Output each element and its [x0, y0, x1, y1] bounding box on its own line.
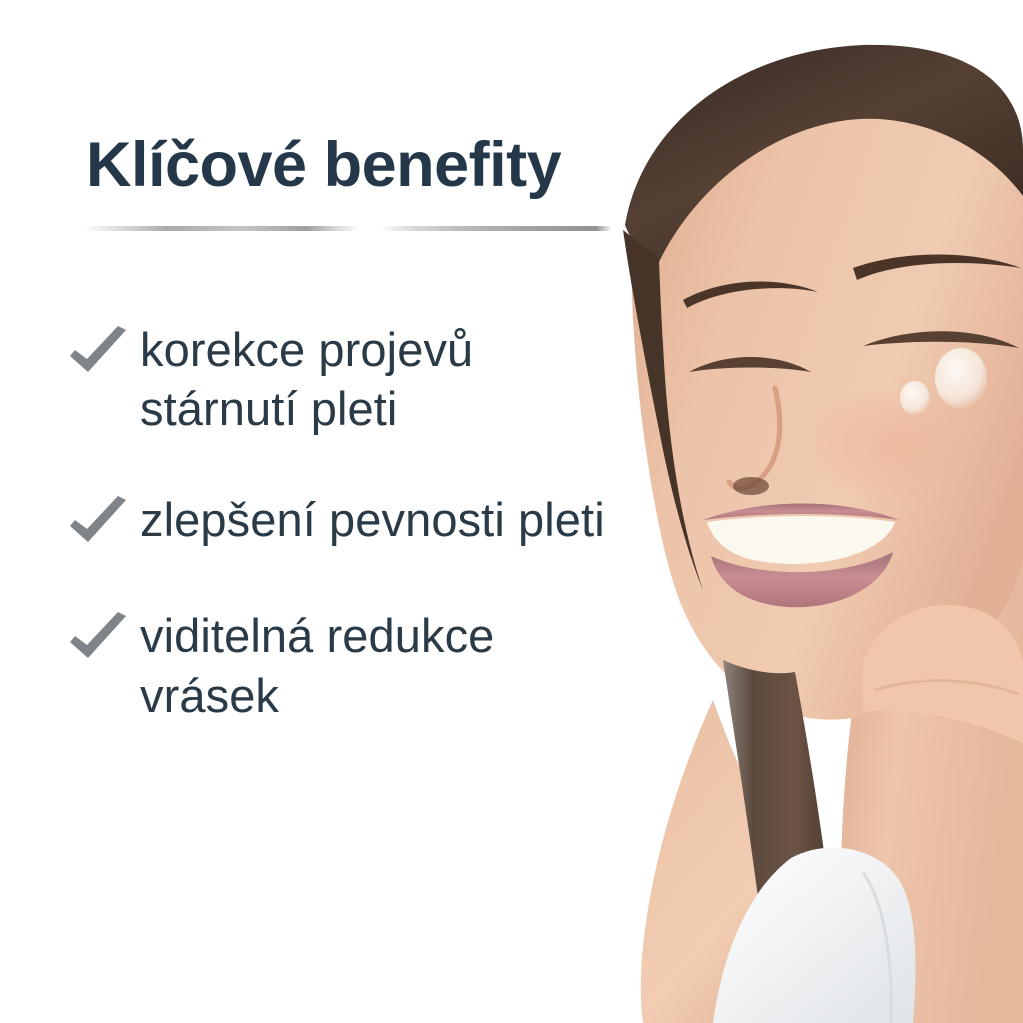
garment-shape	[713, 848, 916, 1023]
cream-dot-small	[900, 381, 930, 415]
garment-fold	[863, 872, 891, 1023]
benefit-item: viditelná redukce vrásek	[0, 606, 700, 724]
benefit-label: zlepšení pevnosti pleti	[140, 490, 605, 549]
benefit-label: viditelná redukce vrásek	[140, 606, 640, 724]
knuckle-line-1	[875, 681, 1019, 694]
check-icon	[66, 496, 130, 554]
eye-left-closed-shape	[689, 357, 811, 372]
benefit-item: korekce projevů stárnutí pleti	[0, 320, 700, 438]
check-icon	[66, 612, 130, 670]
teeth-shape	[707, 516, 895, 564]
check-icon	[66, 326, 130, 384]
nose-shape	[729, 388, 780, 489]
cheek-highlight	[801, 383, 985, 507]
hair-tail-shape	[723, 660, 843, 1023]
eyebrow-left-shape	[683, 282, 818, 308]
upper-lip-shape	[703, 504, 899, 521]
benefit-item: zlepšení pevnosti pleti	[0, 490, 700, 554]
text-column: Klíčové benefity korekce projevů stárnut…	[0, 0, 700, 1023]
page-title: Klíčové benefity	[86, 132, 561, 198]
benefit-label: korekce projevů stárnutí pleti	[140, 320, 640, 438]
promo-banner: Klíčové benefity korekce projevů stárnut…	[0, 0, 1023, 1023]
hand-shape	[863, 605, 1023, 744]
nostril-shape	[733, 477, 769, 495]
cream-dot-large	[935, 348, 987, 408]
eye-right-closed-shape	[863, 331, 1019, 348]
title-divider	[84, 226, 612, 231]
lower-lip-shape	[711, 552, 893, 607]
eyebrow-right-shape	[853, 255, 1021, 281]
benefits-list: korekce projevů stárnutí pleti zlepšení …	[0, 320, 700, 777]
arm-shape	[841, 420, 1023, 1023]
